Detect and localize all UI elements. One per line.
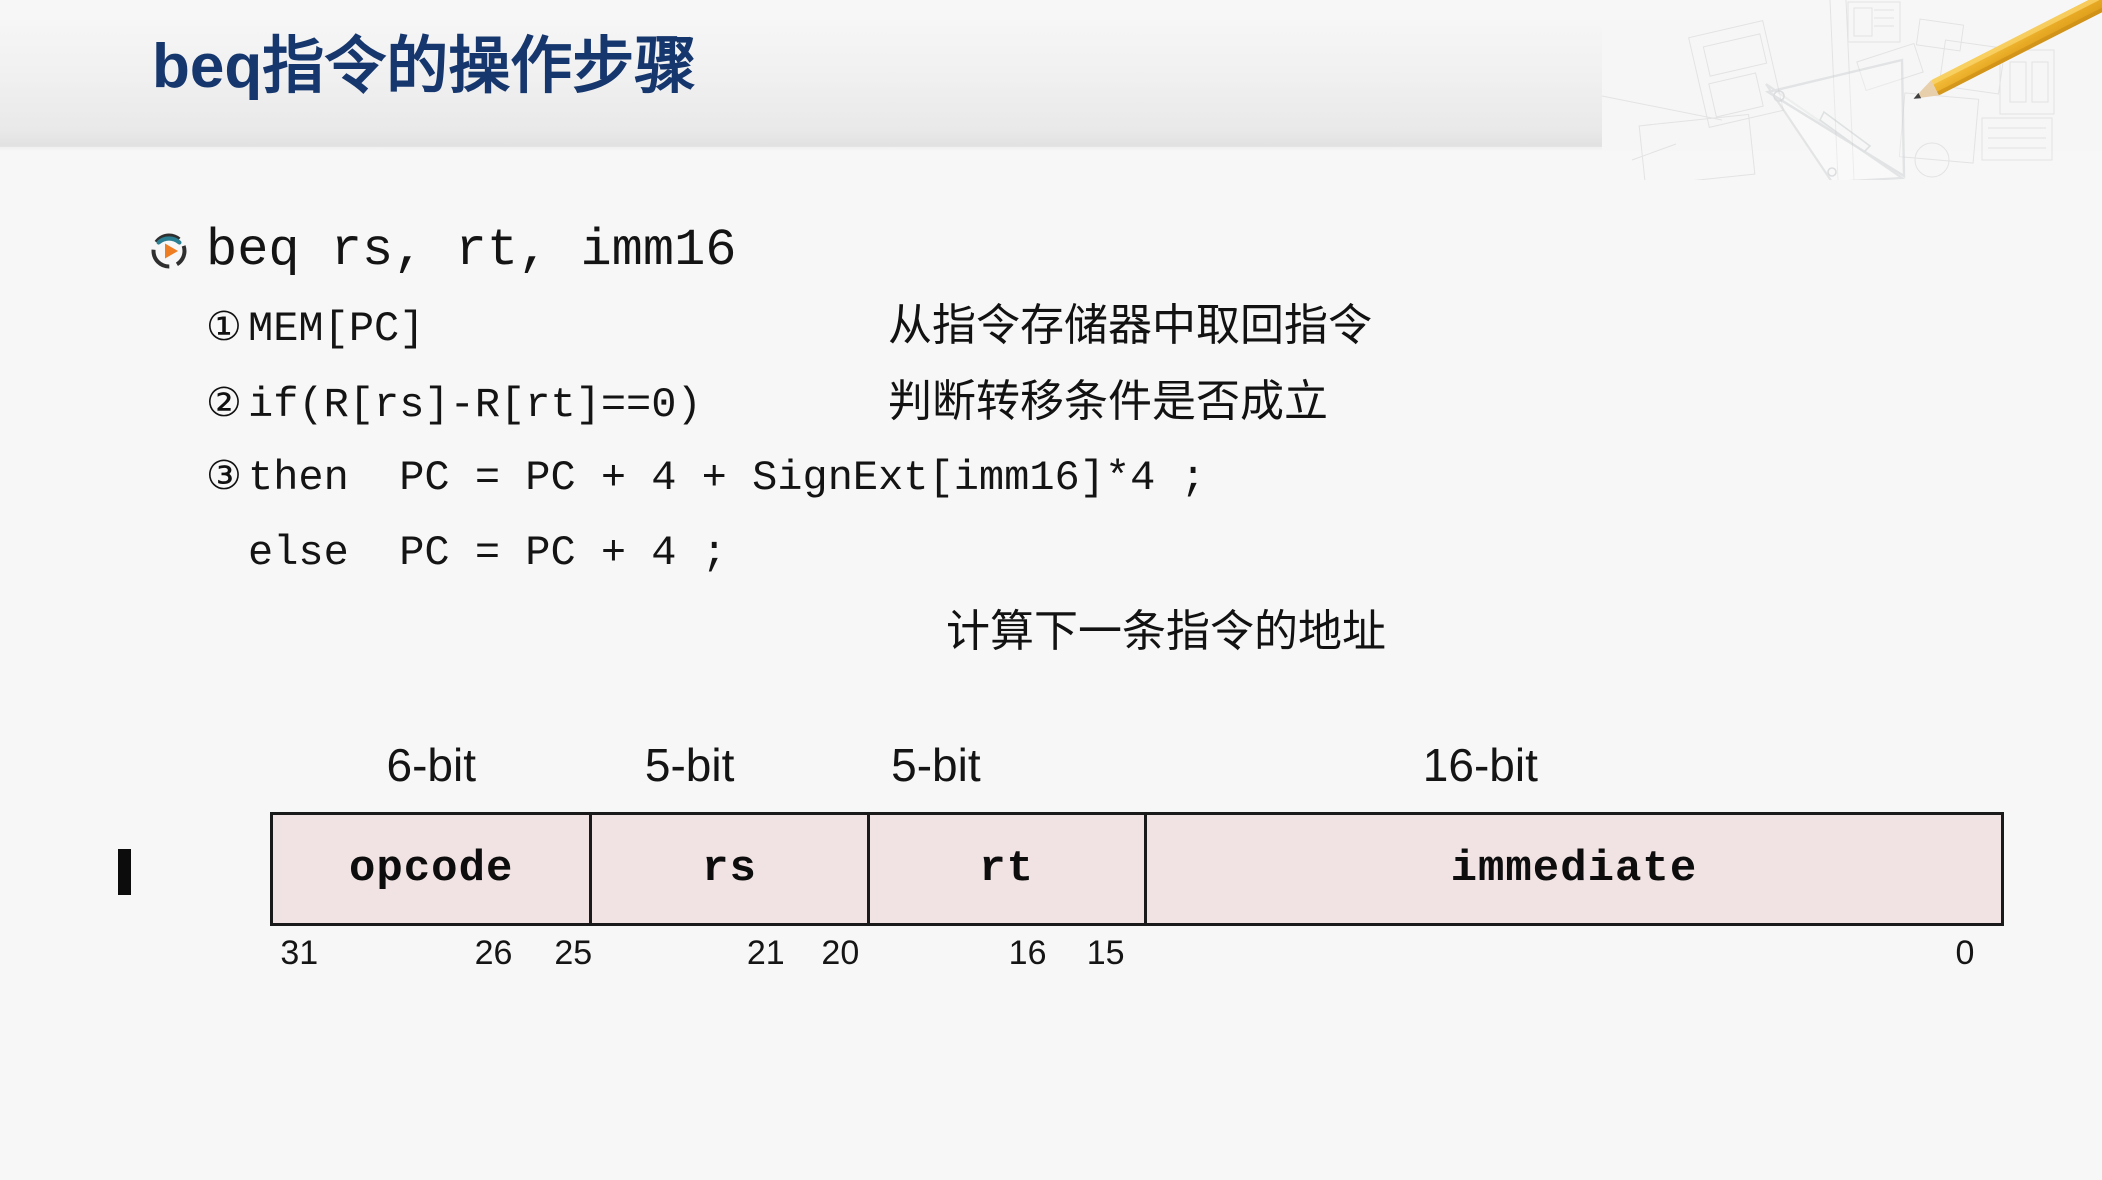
- bit-index: 21: [747, 936, 785, 970]
- bit-width-label: 5-bit: [839, 742, 1033, 788]
- step-marker: ①: [206, 307, 248, 347]
- left-margin-tick: [118, 849, 131, 895]
- step-marker: ②: [206, 383, 248, 423]
- bit-width-label: 16-bit: [1276, 742, 1685, 788]
- bit-width-labels: 6-bit 5-bit 5-bit 16-bit: [270, 742, 2004, 798]
- bit-index: 25: [554, 936, 592, 970]
- instruction-format-table: opcode rs rt immediate: [270, 812, 2004, 926]
- bit-index-labels: 31 26 25 21 20 16 15 0: [270, 936, 2004, 986]
- bit-index: 20: [821, 936, 859, 970]
- list-item: ③ then PC = PC + 4 + SignExt[imm16]*4 ;: [206, 456, 1372, 532]
- bullet-instruction-text: beq rs, rt, imm16: [206, 225, 737, 277]
- trailing-note: 计算下一条指令的地址: [946, 610, 1386, 654]
- page-title: beq指令的操作步骤: [152, 36, 696, 98]
- bit-index: 31: [280, 936, 318, 970]
- field-cell-opcode: opcode: [273, 815, 592, 923]
- slide-canvas: beq指令的操作步骤 beq rs, rt, imm16 ① MEM[PC] 从…: [0, 0, 2102, 1180]
- step-marker: ③: [206, 456, 248, 496]
- list-item: else PC = PC + 4 ;: [206, 532, 1372, 608]
- bit-width-label: 6-bit: [270, 742, 593, 788]
- step-code: else PC = PC + 4 ;: [248, 532, 727, 574]
- field-cell-rt: rt: [870, 815, 1147, 923]
- field-cell-immediate: immediate: [1147, 815, 2001, 923]
- step-note: 从指令存储器中取回指令: [888, 304, 1372, 348]
- bit-index: 15: [1087, 936, 1125, 970]
- bullet-row: beq rs, rt, imm16: [150, 225, 737, 277]
- step-code: then PC = PC + 4 + SignExt[imm16]*4 ;: [248, 457, 1206, 499]
- step-note: 判断转移条件是否成立: [888, 380, 1328, 424]
- field-cell-rs: rs: [592, 815, 869, 923]
- step-code: MEM[PC]: [248, 308, 888, 350]
- step-code: if(R[rs]-R[rt]==0): [248, 384, 888, 426]
- bit-index: 26: [475, 936, 513, 970]
- list-item: ① MEM[PC] 从指令存储器中取回指令: [206, 304, 1372, 380]
- bit-index: 16: [1009, 936, 1047, 970]
- bit-index: 0: [1955, 936, 1974, 970]
- play-circle-icon: [150, 232, 188, 270]
- drafting-tools-icon: [1602, 0, 2102, 180]
- list-item: ② if(R[rs]-R[rt]==0) 判断转移条件是否成立: [206, 380, 1372, 456]
- steps-list: ① MEM[PC] 从指令存储器中取回指令 ② if(R[rs]-R[rt]==…: [206, 304, 1372, 608]
- bit-width-label: 5-bit: [593, 742, 787, 788]
